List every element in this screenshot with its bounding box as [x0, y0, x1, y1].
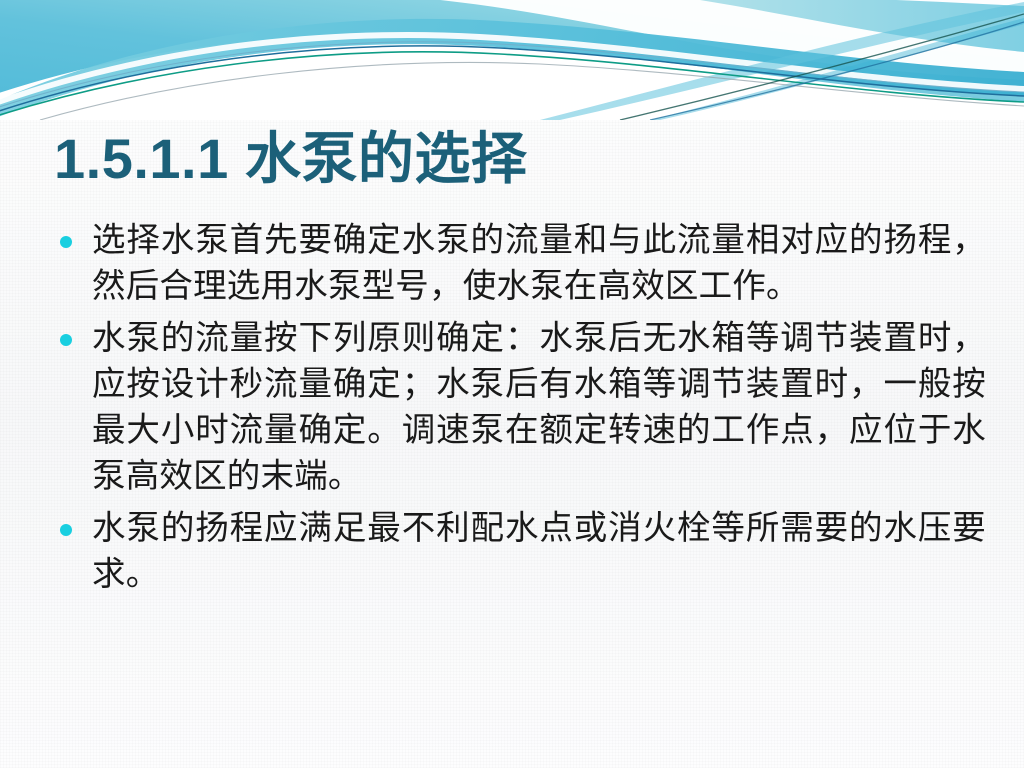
bullet-dot-icon — [60, 236, 72, 248]
wave-white-upper — [300, 0, 1024, 80]
hairline-dark-right — [620, 14, 1024, 120]
hairline-teal — [0, 52, 1024, 118]
hairline-blue — [0, 46, 1024, 114]
list-item-text: 水泵的流量按下列原则确定：水泵后无水箱等调节装置时，应按设计秒流量确定；水泵后有… — [92, 316, 986, 500]
list-item: 水泵的流量按下列原则确定：水泵后无水箱等调节装置时，应按设计秒流量确定；水泵后有… — [54, 316, 986, 500]
wave-white-separator — [0, 32, 1024, 108]
wave-white-main — [0, 36, 1024, 120]
bullet-dot-icon — [60, 334, 72, 346]
list-item-text: 水泵的扬程应满足最不利配水点或消火栓等所需要的水压要求。 — [92, 506, 986, 598]
wave-accent-sliver-b — [650, 18, 1024, 120]
wave-blue-ribbon — [0, 19, 1024, 120]
list-item-text: 选择水泵首先要确定水泵的流量和与此流量相对应的扬程，然后合理选用水泵型号，使水泵… — [92, 218, 986, 310]
title-block: 1.5.1.1 水泵的选择 — [54, 126, 984, 192]
list-item: 选择水泵首先要确定水泵的流量和与此流量相对应的扬程，然后合理选用水泵型号，使水泵… — [54, 218, 986, 310]
wave-accent-sliver-a — [540, 2, 1024, 120]
bullet-list: 选择水泵首先要确定水泵的流量和与此流量相对应的扬程，然后合理选用水泵型号，使水泵… — [54, 218, 986, 598]
hairline-lightblue — [0, 42, 1024, 110]
presentation-slide: 1.5.1.1 水泵的选择 选择水泵首先要确定水泵的流量和与此流量相对应的扬程，… — [0, 0, 1024, 768]
hairline-dark-right-b — [650, 22, 1024, 120]
header-wave-graphic — [0, 0, 1024, 120]
wave-light-crescent — [700, 0, 1024, 52]
header-wave-banner — [0, 0, 1024, 120]
page-title: 1.5.1.1 水泵的选择 — [54, 126, 984, 192]
hairline-gray — [40, 62, 1024, 120]
list-item: 水泵的扬程应满足最不利配水点或消火栓等所需要的水压要求。 — [54, 506, 986, 598]
bullet-dot-icon — [60, 524, 72, 536]
